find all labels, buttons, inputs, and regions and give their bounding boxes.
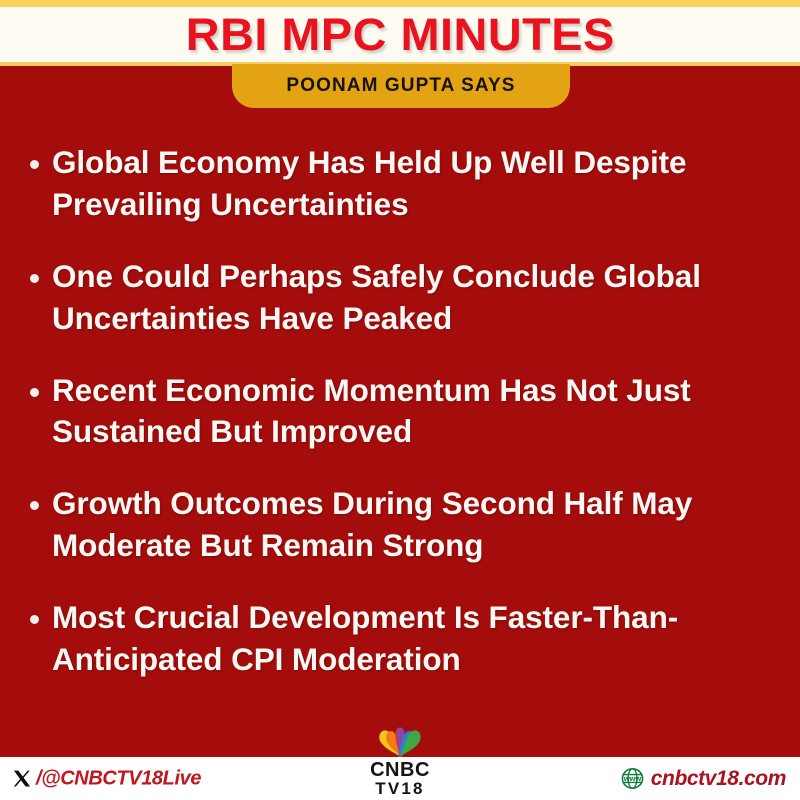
header-band: RBI MPC MINUTES: [0, 0, 800, 66]
bullet-dot-icon: [30, 615, 39, 624]
svg-text:www: www: [622, 774, 641, 783]
list-item-text: Recent Economic Momentum Has Not Just Su…: [52, 370, 774, 454]
cnbc-logo-line2: TV18: [352, 780, 448, 798]
list-item-text: One Could Perhaps Safely Conclude Global…: [52, 256, 774, 340]
x-twitter-icon[interactable]: [12, 768, 33, 789]
list-item: Most Crucial Development Is Faster-Than-…: [30, 597, 774, 681]
www-globe-icon: www: [621, 767, 644, 790]
cnbc-tv18-logo: CNBC TV18: [352, 719, 448, 798]
list-item: Recent Economic Momentum Has Not Just Su…: [30, 370, 774, 454]
rbi-mpc-minutes-card: RBI MPC MINUTES POONAM GUPTA SAYS Global…: [0, 0, 800, 800]
list-item: Global Economy Has Held Up Well Despite …: [30, 142, 774, 226]
cnbc-logo-line1: CNBC: [352, 760, 448, 780]
website-text[interactable]: cnbctv18.com: [651, 767, 786, 791]
nbc-peacock-icon: [365, 719, 435, 759]
bullet-dot-icon: [30, 160, 39, 169]
list-item-text: Most Crucial Development Is Faster-Than-…: [52, 597, 774, 681]
speaker-badge: POONAM GUPTA SAYS: [232, 64, 570, 108]
bullet-dot-icon: [30, 501, 39, 510]
bullet-dot-icon: [30, 388, 39, 397]
list-item-text: Growth Outcomes During Second Half May M…: [52, 483, 774, 567]
bullet-dot-icon: [30, 274, 39, 283]
website-group[interactable]: www cnbctv18.com: [621, 767, 786, 791]
page-title: RBI MPC MINUTES: [186, 12, 615, 57]
list-item: One Could Perhaps Safely Conclude Global…: [30, 256, 774, 340]
social-handle-text[interactable]: /@CNBCTV18Live: [36, 767, 201, 790]
list-item: Growth Outcomes During Second Half May M…: [30, 483, 774, 567]
list-item-text: Global Economy Has Held Up Well Despite …: [52, 142, 774, 226]
social-handle-group[interactable]: /@CNBCTV18Live: [12, 767, 201, 790]
bullet-list: Global Economy Has Held Up Well Despite …: [0, 142, 800, 681]
speaker-badge-label: POONAM GUPTA SAYS: [286, 75, 515, 97]
